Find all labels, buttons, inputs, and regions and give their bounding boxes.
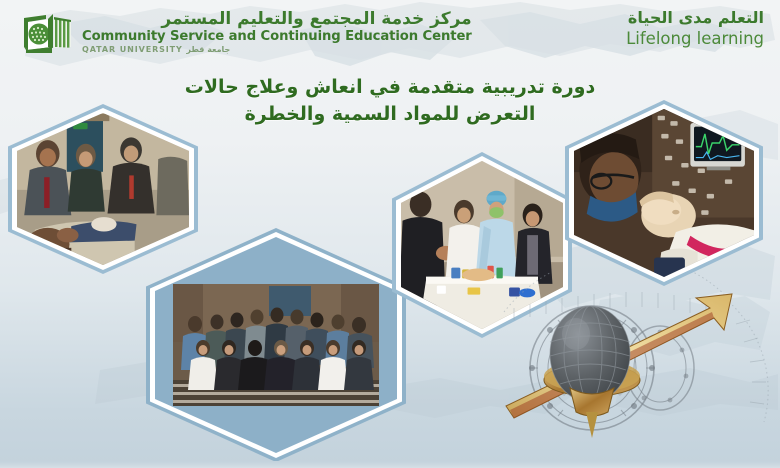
qatar-university-book-emblem-icon — [20, 9, 74, 57]
logo-university-line: QATAR UNIVERSITY جامعة قطر — [82, 45, 472, 54]
photo-group-participants — [146, 228, 406, 462]
tagline-english: Lifelong learning — [626, 29, 764, 49]
course-title: دورة تدريبية متقدمة في انعاش وعلاج حالات… — [0, 74, 780, 128]
logo-english-name: Community Service and Continuing Educati… — [82, 29, 472, 44]
qu-cscec-logo: مركز خدمة المجتمع والتعليم المستمر Commu… — [20, 9, 472, 57]
photo-hands-on-simulation — [8, 104, 198, 274]
course-title-line-1: دورة تدريبية متقدمة في انعاش وعلاج حالات — [150, 74, 630, 101]
logo-arabic-name: مركز خدمة المجتمع والتعليم المستمر — [82, 10, 472, 29]
photo-group-participants-image — [173, 284, 379, 406]
photo-decontamination-demo — [392, 152, 572, 338]
banner-header: مركز خدمة المجتمع والتعليم المستمر Commu… — [0, 0, 780, 68]
course-banner: مركز خدمة المجتمع والتعليم المستمر Commu… — [0, 0, 780, 468]
bottom-edge-strip — [0, 461, 780, 468]
lifelong-learning-tagline: التعلم مدى الحياة Lifelong learning — [626, 8, 764, 49]
course-title-line-2: التعرض للمواد السمية والخطرة — [150, 101, 630, 128]
tagline-arabic: التعلم مدى الحياة — [626, 8, 764, 28]
